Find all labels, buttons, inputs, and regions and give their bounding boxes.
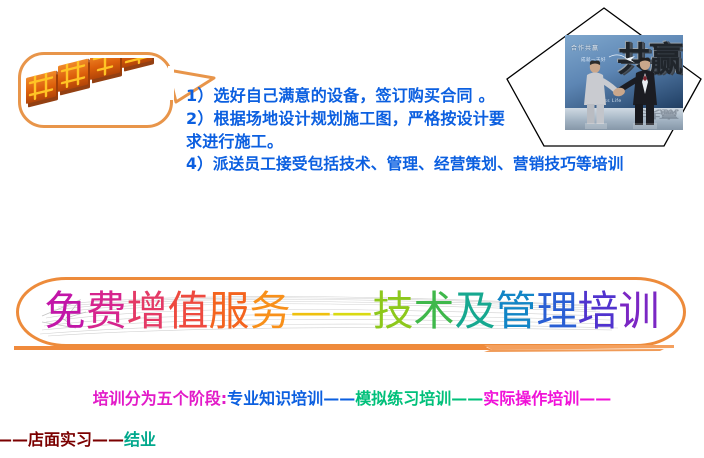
wordart-sign-contract	[22, 58, 172, 124]
stages-label: 培训分为五个阶段:	[93, 389, 227, 408]
process-step-3: 求进行施工。	[186, 130, 656, 153]
banner-char-9: 术	[414, 283, 455, 339]
banner-char-14: 训	[619, 283, 660, 339]
free-service-title: 免费增值服务——技术及管理培训	[0, 283, 704, 339]
stage-item-4: 店面实习	[28, 430, 92, 449]
banner-char-5: 务	[250, 283, 291, 339]
stage-item-3: 实际操作培训	[483, 389, 579, 408]
banner-char-7: —	[332, 283, 373, 339]
banner-char-2: 增	[127, 283, 168, 339]
process-step-2: 2）根据场地设计规划施工图，严格按设计要	[186, 107, 656, 130]
training-stages-line-1: 培训分为五个阶段:专业知识培训——模拟练习培训——实际操作培训——	[0, 387, 704, 411]
banner-char-13: 培	[578, 283, 619, 339]
banner-char-12: 理	[537, 283, 578, 339]
stage-item-1: 专业知识培训	[227, 389, 323, 408]
banner-char-1: 费	[86, 283, 127, 339]
stage-separator-4: ——	[0, 430, 28, 449]
banner-char-10: 及	[455, 283, 496, 339]
banner-char-3: 值	[168, 283, 209, 339]
stage-separator-1: ——	[323, 389, 355, 408]
banner-char-11: 管	[496, 283, 537, 339]
banner-underline-bar	[14, 344, 674, 353]
stage-item-5: 结业	[124, 430, 156, 449]
banner-char-0: 免	[45, 283, 86, 339]
stage-separator-3: ——	[579, 389, 611, 408]
banner-char-6: —	[291, 283, 332, 339]
training-stages-line-2: ——店面实习——结业	[0, 428, 156, 452]
process-steps-list: 1）选好自己满意的设备，签订购买合同 。 2）根据场地设计规划施工图，严格按设计…	[186, 84, 656, 176]
banner-char-8: 技	[373, 283, 414, 339]
stage-separator-5: ——	[92, 430, 124, 449]
process-step-1: 1）选好自己满意的设备，签订购买合同 。	[186, 84, 656, 107]
process-step-4: 4）派送员工接受包括技术、管理、经营策划、营销技巧等培训	[186, 153, 656, 176]
stage-item-2: 模拟练习培训	[355, 389, 451, 408]
stage-separator-2: ——	[451, 389, 483, 408]
banner-char-4: 服	[209, 283, 250, 339]
